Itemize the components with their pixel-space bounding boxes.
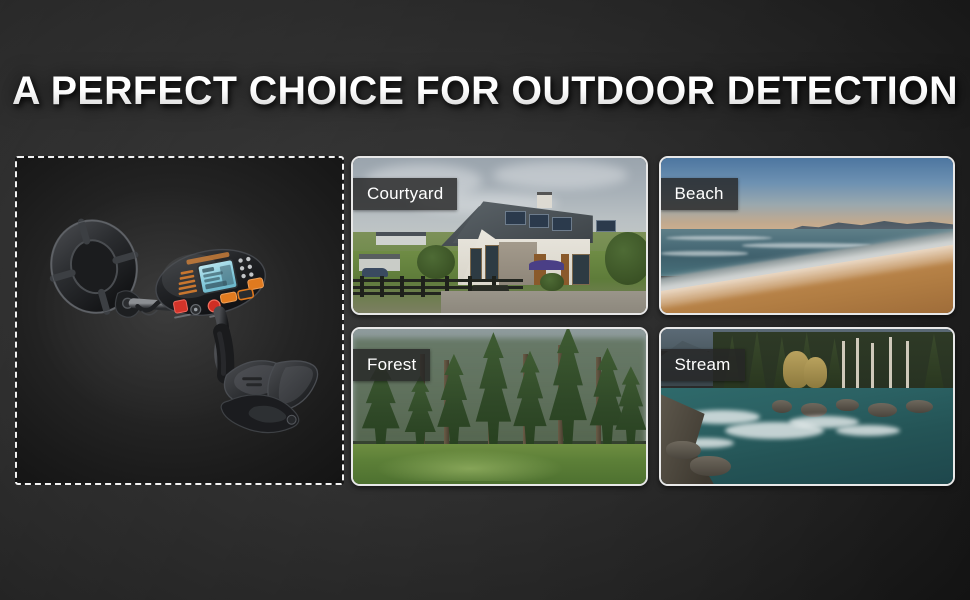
tile-label-forest: Forest	[353, 349, 430, 381]
metal-detector-illustration	[17, 158, 342, 483]
tile-label-stream: Stream	[661, 349, 745, 381]
product-image-panel	[15, 156, 344, 485]
page-title: A PERFECT CHOICE FOR OUTDOOR DETECTION	[7, 68, 962, 114]
tile-label-beach: Beach	[661, 178, 738, 210]
tile-forest[interactable]: Forest	[351, 327, 648, 486]
tile-label-courtyard: Courtyard	[353, 178, 457, 210]
scene-tiles-grid: Courtyard Beach	[351, 156, 955, 486]
tile-beach[interactable]: Beach	[659, 156, 956, 315]
tile-stream[interactable]: Stream	[659, 327, 956, 486]
promo-banner: A PERFECT CHOICE FOR OUTDOOR DETECTION	[0, 0, 970, 600]
tile-courtyard[interactable]: Courtyard	[351, 156, 648, 315]
